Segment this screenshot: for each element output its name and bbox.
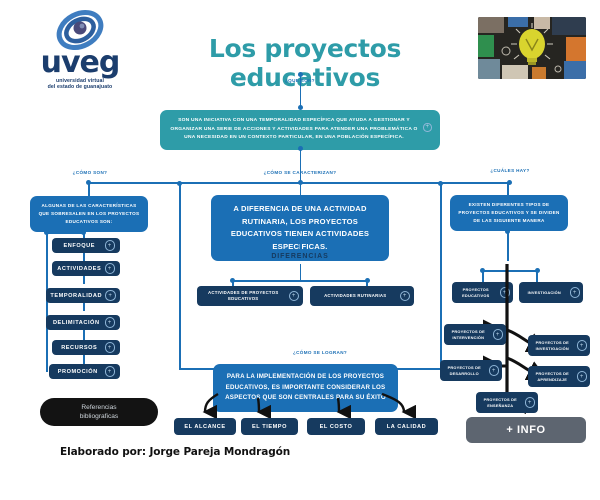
- left-item-label: DELIMITACIÓN: [51, 320, 102, 326]
- bottom-item-label: EL COSTO: [307, 424, 365, 430]
- references-line2: bibliograficas: [80, 412, 118, 422]
- bottom-item-alcance[interactable]: EL ALCANCE: [174, 418, 236, 435]
- center-item-label: ACTIVIDADES RUTINARIAS: [314, 293, 397, 299]
- right-headline-box: EXISTEN DIFERENTES TIPOS DE PROYECTOS ED…: [450, 195, 568, 231]
- bottom-item-costo[interactable]: EL COSTO: [307, 418, 365, 435]
- connector-line: [46, 232, 84, 234]
- infographic-canvas: uveg universidad virtual del estado de g…: [0, 0, 600, 500]
- connector-dot: [298, 146, 303, 151]
- left-item-label: ACTIVIDADES: [57, 266, 102, 272]
- plus-circle-icon[interactable]: +: [105, 290, 116, 301]
- connector-line: [300, 264, 302, 281]
- connector-line: [300, 74, 302, 108]
- more-info-button[interactable]: + INFO: [466, 417, 586, 443]
- right-item-aprendizaje[interactable]: PROYECTOS DE APRENDIZAJE +: [528, 366, 590, 387]
- uveg-subtitle-line2: del estado de guanajuato: [48, 84, 113, 90]
- left-item-actividades[interactable]: ACTIVIDADES +: [52, 261, 120, 276]
- author-line: Elaborado por: Jorge Pareja Mondragón: [60, 446, 290, 458]
- connector-line: [83, 355, 85, 364]
- connector-rail-left: [179, 183, 181, 369]
- bottom-item-tiempo[interactable]: EL TIEMPO: [241, 418, 298, 435]
- left-item-temporalidad[interactable]: TEMPORALIDAD +: [46, 288, 120, 303]
- connector-line: [83, 253, 85, 261]
- uveg-wordmark: uveg: [26, 48, 134, 78]
- label-como-se-caracterizan: ¿CÓMO SE CARACTERIZAN?: [245, 170, 355, 175]
- left-item-delimitacion[interactable]: DELIMITACIÓN +: [46, 315, 120, 330]
- connector-line: [83, 276, 85, 284]
- uveg-swirl-icon: [56, 10, 104, 50]
- connector-line: [507, 231, 509, 261]
- right-item-label: PROYECTOS DE APRENDIZAJE: [531, 371, 574, 382]
- connector-dot: [505, 229, 510, 234]
- connector-line: [88, 184, 90, 196]
- plus-circle-icon[interactable]: +: [577, 371, 588, 382]
- right-item-intervencion[interactable]: PROYECTOS DE INTERVENCIÓN +: [444, 324, 506, 345]
- connector-dot: [298, 238, 303, 243]
- bottom-item-label: EL TIEMPO: [241, 424, 298, 430]
- right-item-desarrollo[interactable]: PROYECTOS DE DESARROLLO +: [440, 360, 502, 381]
- uveg-subtitle: universidad virtual del estado de guanaj…: [26, 78, 134, 91]
- plus-circle-icon[interactable]: +: [105, 366, 116, 377]
- left-item-label: RECURSOS: [57, 345, 102, 351]
- left-item-label: ENFOQUE: [57, 243, 102, 249]
- connector-line: [300, 148, 302, 182]
- uveg-subtitle-line1: universidad virtual: [56, 78, 104, 84]
- connector-line: [232, 280, 368, 282]
- plus-circle-icon[interactable]: +: [423, 123, 432, 132]
- left-item-label: PROMOCIÓN: [54, 369, 102, 375]
- page-title: Los proyectos educativos: [140, 34, 470, 92]
- left-item-enfoque[interactable]: ENFOQUE +: [52, 238, 120, 253]
- left-headline-text: ALGUNAS DE LAS CARACTERÍSTICAS QUE SOBRE…: [39, 203, 140, 224]
- plus-circle-icon[interactable]: +: [489, 365, 500, 376]
- right-item-ensenanza[interactable]: PROYECTOS DE ENSEÑANZA +: [476, 392, 538, 413]
- right-item-label: PROYECTOS DE INVESTIGACIÓN: [531, 340, 574, 351]
- definition-text: SON UNA INICIATIVA CON UNA TEMPORALIDAD …: [170, 118, 417, 140]
- center-item-actividades-rutinarias[interactable]: ACTIVIDADES RUTINARIAS +: [310, 286, 414, 306]
- plus-circle-icon[interactable]: +: [105, 263, 116, 274]
- connector-dot: [438, 181, 443, 186]
- bottom-item-label: LA CALIDAD: [375, 424, 438, 430]
- bottom-arrows: [160, 392, 450, 420]
- label-como-son: ¿CÓMO SON?: [50, 170, 130, 175]
- bottom-item-label: EL ALCANCE: [174, 424, 236, 430]
- right-item-investigacion-proyectos[interactable]: PROYECTOS DE INVESTIGACIÓN +: [528, 335, 590, 356]
- right-item-label: PROYECTOS DE ENSEÑANZA: [479, 397, 522, 408]
- plus-circle-icon[interactable]: +: [400, 291, 411, 302]
- left-item-recursos[interactable]: RECURSOS +: [52, 340, 120, 355]
- center-item-label: ACTIVIDADES DE PROYECTOS EDUCATIVOS: [201, 290, 286, 302]
- connector-line: [507, 184, 509, 195]
- right-item-label: PROYECTOS DE INTERVENCIÓN: [447, 329, 490, 340]
- plus-circle-icon[interactable]: +: [105, 240, 116, 251]
- definition-box: SON UNA INICIATIVA CON UNA TEMPORALIDAD …: [160, 110, 440, 150]
- right-item-label: PROYECTOS DE DESARROLLO: [443, 365, 486, 376]
- left-item-promocion[interactable]: PROMOCIÓN +: [49, 364, 120, 379]
- plus-circle-icon[interactable]: +: [105, 342, 116, 353]
- connector-line: [83, 330, 85, 340]
- plus-circle-icon[interactable]: +: [577, 340, 588, 351]
- lightbulb-brainstorm-photo: [478, 17, 586, 79]
- connector-dot: [177, 181, 182, 186]
- references-button[interactable]: Referencias bibliograficas: [40, 398, 158, 426]
- label-cuales-hay: ¿CUÁLES HAY?: [470, 168, 550, 173]
- label-como-se-logran: ¿CÓMO SE LOGRAN?: [270, 350, 370, 355]
- plus-circle-icon[interactable]: +: [289, 291, 300, 302]
- left-headline-box: ALGUNAS DE LAS CARACTERÍSTICAS QUE SOBRE…: [30, 196, 148, 232]
- uveg-logo: uveg universidad virtual del estado de g…: [26, 10, 134, 94]
- plus-circle-icon[interactable]: +: [105, 317, 116, 328]
- connector-line: [300, 184, 302, 195]
- connector-line: [83, 303, 85, 311]
- plus-circle-icon[interactable]: +: [493, 329, 504, 340]
- diferencias-label: DIFERENCIAS: [250, 253, 350, 260]
- left-item-label: TEMPORALIDAD: [50, 293, 102, 299]
- bottom-item-calidad[interactable]: LA CALIDAD: [375, 418, 438, 435]
- references-line1: Referencias: [81, 403, 116, 413]
- plus-circle-icon[interactable]: +: [525, 397, 536, 408]
- center-item-actividades-proyectos[interactable]: ACTIVIDADES DE PROYECTOS EDUCATIVOS +: [197, 286, 303, 306]
- right-headline-text: EXISTEN DIFERENTES TIPOS DE PROYECTOS ED…: [458, 202, 559, 223]
